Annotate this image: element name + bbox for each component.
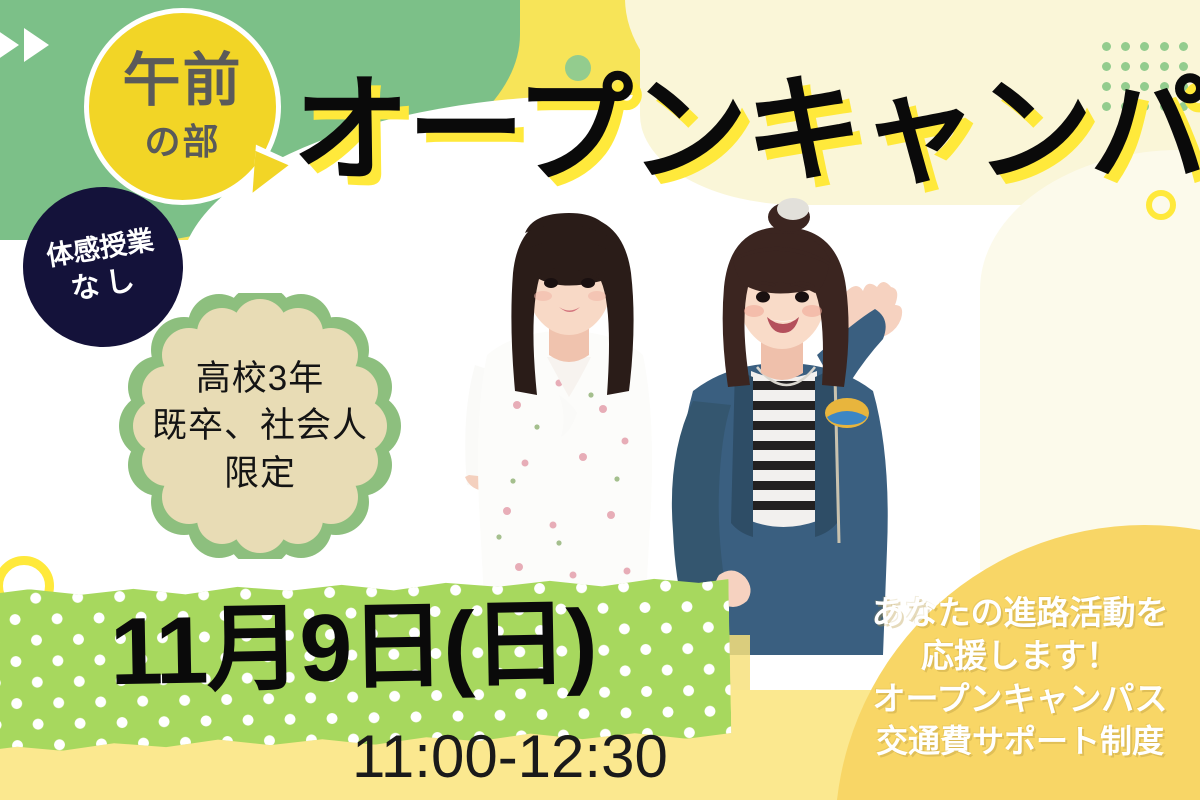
bubble-line-2: の部	[144, 124, 220, 160]
event-time: 11:00-12:30	[352, 727, 668, 787]
navy-badge-line-1: 体感授業	[45, 226, 156, 270]
play-arrow-icon-1	[0, 28, 19, 62]
open-campus-poster: 11月9日(日) 11:00-12:30 オープンキャンパス 午前 の部 体感授…	[0, 0, 1200, 800]
play-arrow-icon-2	[24, 28, 49, 62]
bubble-line-1: 午前	[122, 52, 242, 110]
event-date: 11月9日(日)	[109, 597, 596, 700]
bubble-tail	[253, 151, 290, 195]
page-title: オープンキャンパス	[292, 72, 1200, 190]
promo-line-2: 応援します！	[845, 635, 1195, 678]
navy-badge-line-2: なし	[69, 265, 143, 305]
eligibility-line-1: 高校3年	[196, 358, 324, 399]
promo-line-1: あなたの進路活動を	[845, 592, 1195, 635]
promo-line-3: オープンキャンパス	[845, 678, 1195, 721]
session-time-bubble: 午前 の部	[84, 8, 281, 205]
eligibility-line-3: 限定	[224, 453, 296, 494]
eligibility-line-2: 既卒、社会人	[152, 405, 368, 446]
transport-support-promo: あなたの進路活動を 応援します！ オープンキャンパス 交通費サポート制度	[845, 592, 1195, 762]
promo-line-4: 交通費サポート制度	[845, 721, 1195, 763]
